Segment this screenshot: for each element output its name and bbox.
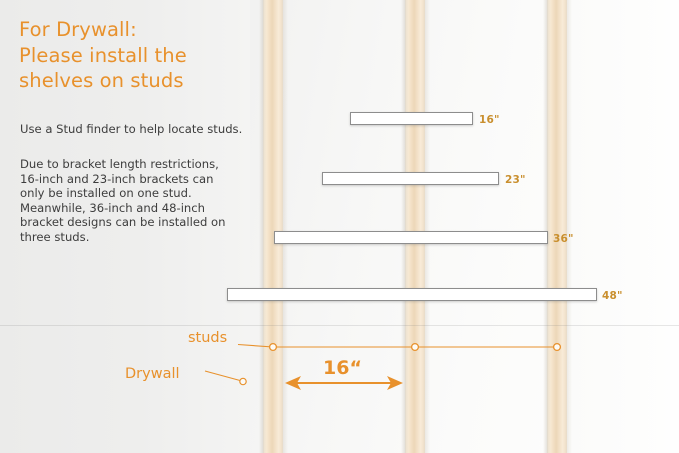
stud-2	[405, 0, 425, 453]
page-title: For Drywall: Please install the shelves …	[19, 17, 249, 94]
shelf-bar-16	[350, 112, 473, 125]
wall-shading-right	[570, 0, 679, 453]
shelf-bar-36	[274, 231, 548, 244]
stud-1	[263, 0, 283, 453]
drywall-leader-line	[205, 371, 240, 381]
shelf-label-16: 16"	[479, 114, 500, 126]
section-divider	[0, 325, 679, 326]
shelf-label-36: 36"	[553, 233, 574, 245]
shelf-bar-48	[227, 288, 597, 301]
drywall-instruction-graphic: For Drywall: Please install the shelves …	[0, 0, 679, 453]
shelf-bar-23	[322, 172, 499, 185]
stud-3	[547, 0, 567, 453]
callout-drywall-label: Drywall	[125, 366, 180, 382]
shelf-label-23: 23"	[505, 174, 526, 186]
shelf-label-48: 48"	[602, 290, 623, 302]
callout-studs-label: studs	[188, 330, 227, 346]
lead-paragraph: Use a Stud finder to help locate studs.	[20, 122, 260, 136]
body-paragraph: Due to bracket length restrictions, 16-i…	[20, 157, 266, 245]
drywall-marker	[240, 378, 246, 384]
stud-spacing-label: 16“	[323, 357, 362, 379]
